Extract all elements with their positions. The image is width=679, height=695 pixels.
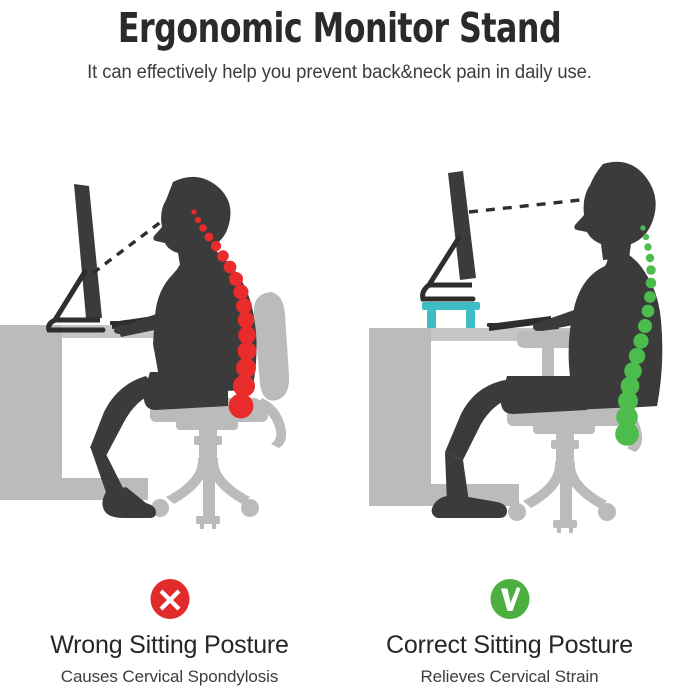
wrong-posture-heading: Wrong Sitting Posture [0,630,339,660]
monitor-stand [422,302,480,328]
page-title: Ergonomic Monitor Stand [48,0,632,52]
correct-posture-caption: Correct Sitting Posture Relieves Cervica… [340,560,679,688]
page-subtitle: It can effectively help you prevent back… [10,52,669,85]
correct-posture-heading: Correct Sitting Posture [340,630,679,660]
sight-line [469,198,599,212]
person-figure [90,177,257,518]
check-circle-icon [489,578,531,620]
header: Ergonomic Monitor Stand It can effective… [0,0,679,85]
correct-posture-subtext: Relieves Cervical Strain [340,666,679,688]
infographic-page: Ergonomic Monitor Stand It can effective… [0,0,679,695]
monitor [423,171,476,299]
wrong-posture-subtext: Causes Cervical Spondylosis [0,666,339,688]
correct-posture-illustration [339,140,679,540]
caption-row: Wrong Sitting Posture Causes Cervical Sp… [0,560,679,695]
wrong-posture-illustration [0,140,340,540]
monitor [49,184,103,330]
illustration-panels [0,140,679,540]
wrong-posture-caption: Wrong Sitting Posture Causes Cervical Sp… [0,560,339,688]
cross-circle-icon [149,578,191,620]
